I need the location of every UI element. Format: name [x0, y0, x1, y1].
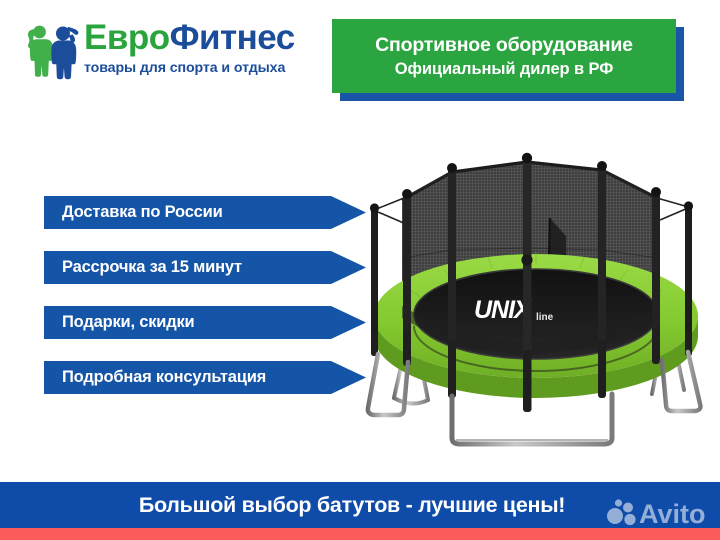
- header-banner-line-2: Официальный дилер в РФ: [395, 58, 613, 80]
- two-people-fitness-icon: [22, 22, 84, 80]
- footer-accent-strip: [0, 528, 720, 540]
- brand-tagline: товары для спорта и отдыха: [84, 59, 329, 77]
- feature-list: Доставка по России Рассрочка за 15 минут…: [44, 196, 366, 396]
- brand-logo-text: ЕвроФитнес товары для спорта и отдыха: [84, 18, 329, 77]
- feature-arrow-delivery[interactable]: Доставка по России: [44, 196, 366, 229]
- brand-name: ЕвроФитнес: [84, 18, 329, 58]
- footer-headline: Большой выбор батутов - лучшие цены!: [139, 493, 565, 518]
- trampoline-with-safety-net-icon: UNIX line: [352, 108, 720, 478]
- brand-logo[interactable]: ЕвроФитнес товары для спорта и отдыха: [22, 20, 327, 88]
- feature-arrow-consultation[interactable]: Подробная консультация: [44, 361, 366, 394]
- feature-arrow-installment[interactable]: Рассрочка за 15 минут: [44, 251, 366, 284]
- promo-banner-page: ЕвроФитнес товары для спорта и отдыха Сп…: [0, 0, 720, 540]
- brand-name-part-2: Фитнес: [170, 18, 295, 57]
- feature-arrow-gifts[interactable]: Подарки, скидки: [44, 306, 366, 339]
- header-banner: Спортивное оборудование Официальный диле…: [332, 19, 684, 101]
- header-banner-body: Спортивное оборудование Официальный диле…: [332, 19, 676, 93]
- header-banner-line-1: Спортивное оборудование: [375, 33, 633, 58]
- brand-name-part-1: Евро: [84, 18, 170, 57]
- svg-text:line: line: [536, 312, 554, 323]
- svg-text:Avito: Avito: [639, 499, 706, 529]
- avito-logo-icon: Avito: [606, 495, 714, 529]
